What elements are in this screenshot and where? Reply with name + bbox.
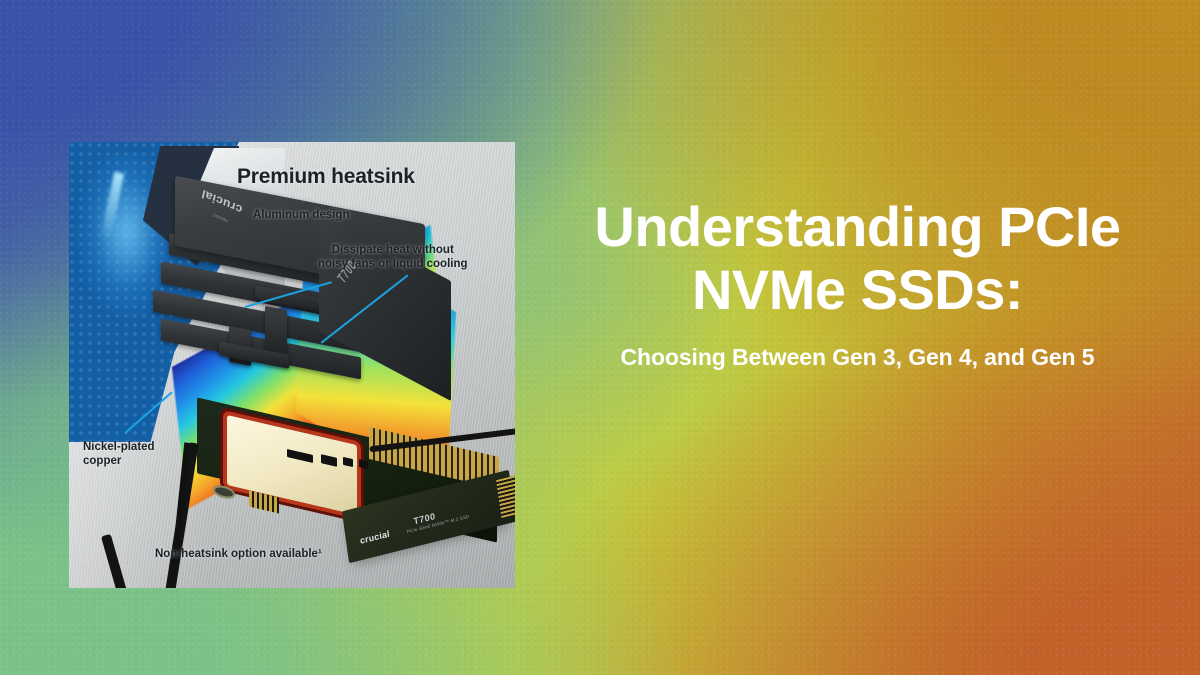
callout-premium-heatsink: Premium heatsink: [237, 164, 415, 190]
page-subtitle: Choosing Between Gen 3, Gen 4, and Gen 5: [530, 344, 1185, 371]
callout-nickel-plated-copper: Nickel-plated copper: [83, 440, 155, 468]
crucial-logo: crucial: [200, 187, 244, 217]
callout-dissipate-heat: Dissipate heat without noisy fans or liq…: [318, 243, 468, 271]
callout-aluminum-design: Aluminum design: [253, 208, 349, 222]
page-title-line-1: Understanding PCIe: [530, 195, 1185, 258]
callout-non-heatsink-option: Non-heatsink option available¹: [155, 547, 322, 561]
bare-ssd-brand: crucial: [359, 529, 390, 546]
page-title-line-2: NVMe SSDs:: [530, 258, 1185, 321]
crucial-logo-subtext: micron: [213, 212, 229, 224]
product-image: crucial micron T700 crucial T700 PCIe Ge…: [69, 142, 515, 588]
callout-nickel-line-1: Nickel-plated: [83, 440, 155, 454]
callout-dissipate-line-2: noisy fans or liquid cooling: [318, 257, 468, 271]
headline-block: Understanding PCIe NVMe SSDs: Choosing B…: [530, 195, 1185, 371]
callout-dissipate-line-1: Dissipate heat without: [318, 243, 468, 257]
banner: crucial micron T700 crucial T700 PCIe Ge…: [0, 0, 1200, 675]
callout-nickel-line-2: copper: [83, 454, 155, 468]
